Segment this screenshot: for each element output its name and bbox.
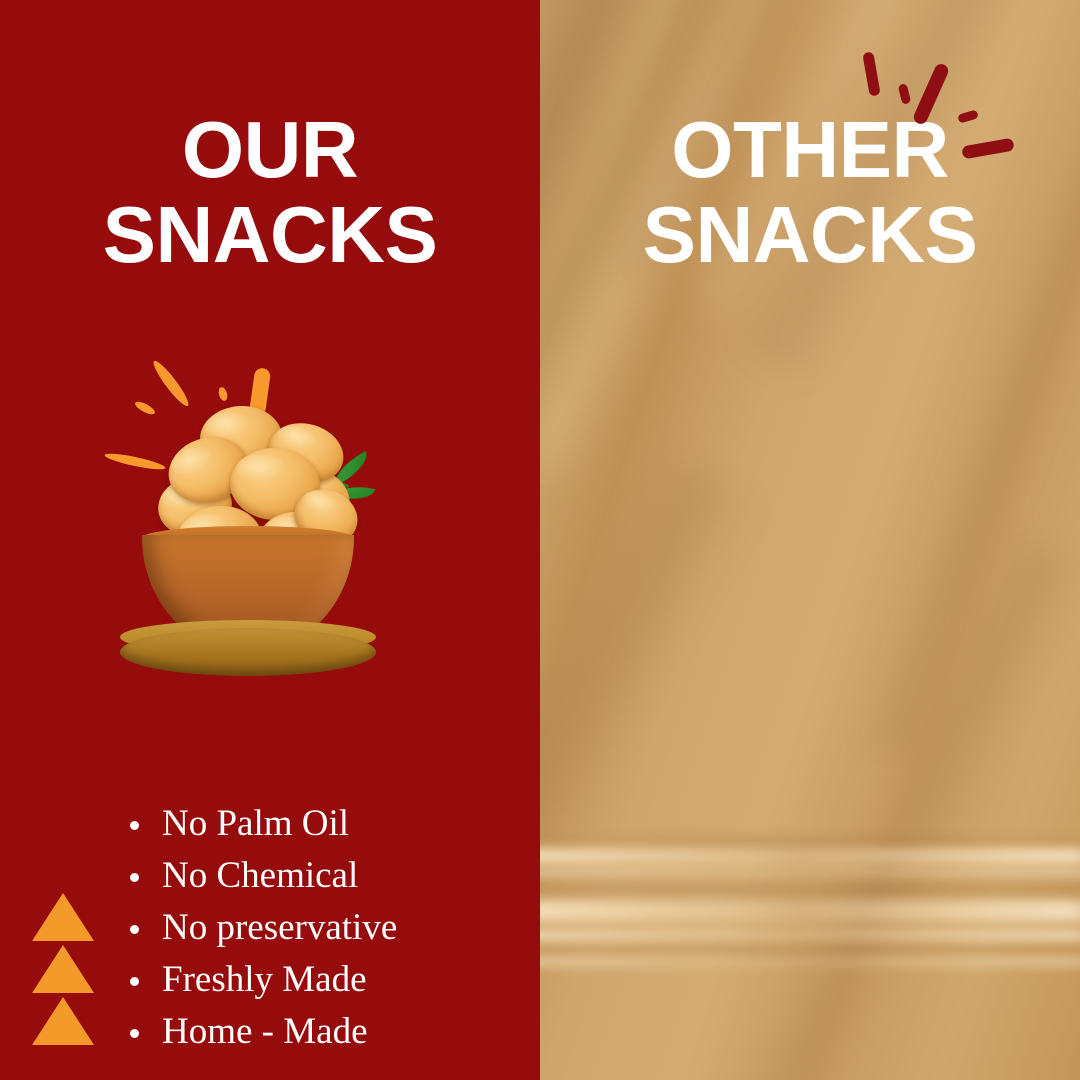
- triangle-accent-2: [32, 945, 94, 993]
- triangle-accent-3: [32, 997, 94, 1045]
- page-title-our-snacks: OUR SNACKS: [0, 108, 540, 278]
- list-item: No Chemical: [128, 850, 397, 902]
- page-title-other-snacks: OTHER SNACKS: [540, 108, 1080, 278]
- plate: [120, 628, 376, 676]
- benefits-list-our-snacks: No Palm Oil No Chemical No preservative …: [128, 798, 397, 1058]
- triangle-accent-1: [32, 893, 94, 941]
- list-item: No Palm Oil: [128, 798, 397, 850]
- list-item: Home - Made: [128, 1006, 397, 1058]
- triangle-accent-group: [32, 893, 94, 1049]
- panel-our-snacks: OUR SNACKS: [0, 0, 540, 1080]
- list-item: Freshly Made: [128, 954, 397, 1006]
- panel-other-snacks: OTHER SNACKS: [540, 0, 1080, 1080]
- snack-bowl-image: [100, 380, 400, 690]
- list-item: No preservative: [128, 902, 397, 954]
- comparison-poster: OUR SNACKS: [0, 0, 1080, 1080]
